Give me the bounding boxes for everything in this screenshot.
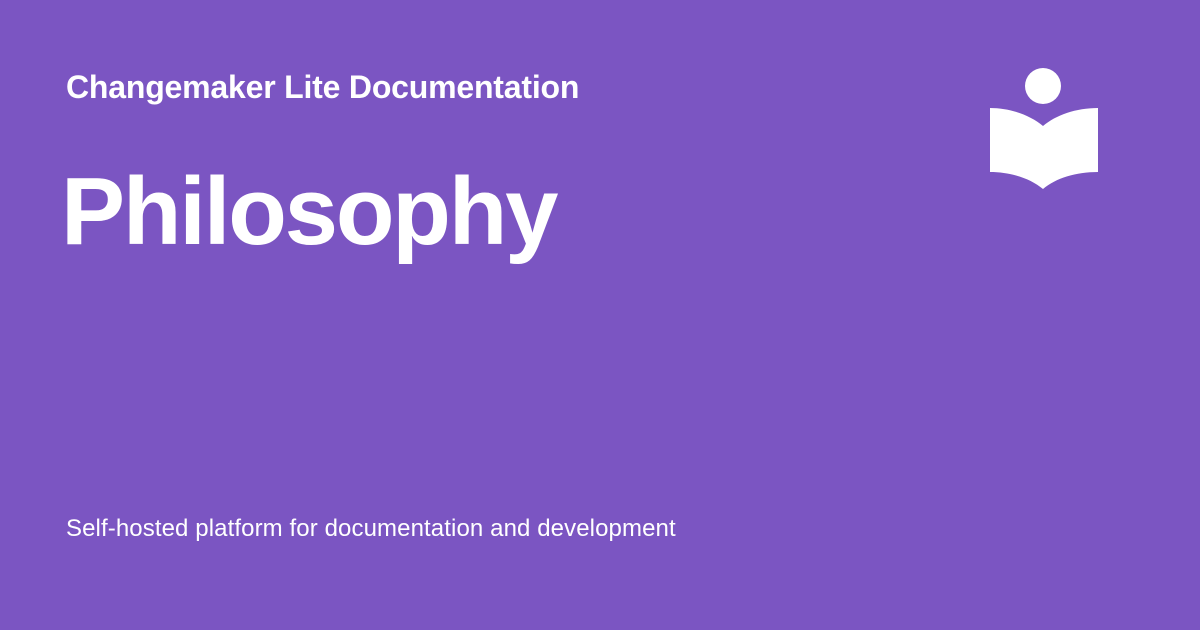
- card-content: Changemaker Lite Documentation Philosoph…: [66, 0, 966, 630]
- og-preview-card: Changemaker Lite Documentation Philosoph…: [0, 0, 1200, 630]
- tagline: Self-hosted platform for documentation a…: [66, 512, 676, 546]
- open-book-reader-icon: [982, 60, 1106, 192]
- page-title: Philosophy: [61, 160, 556, 264]
- site-title: Changemaker Lite Documentation: [66, 68, 579, 106]
